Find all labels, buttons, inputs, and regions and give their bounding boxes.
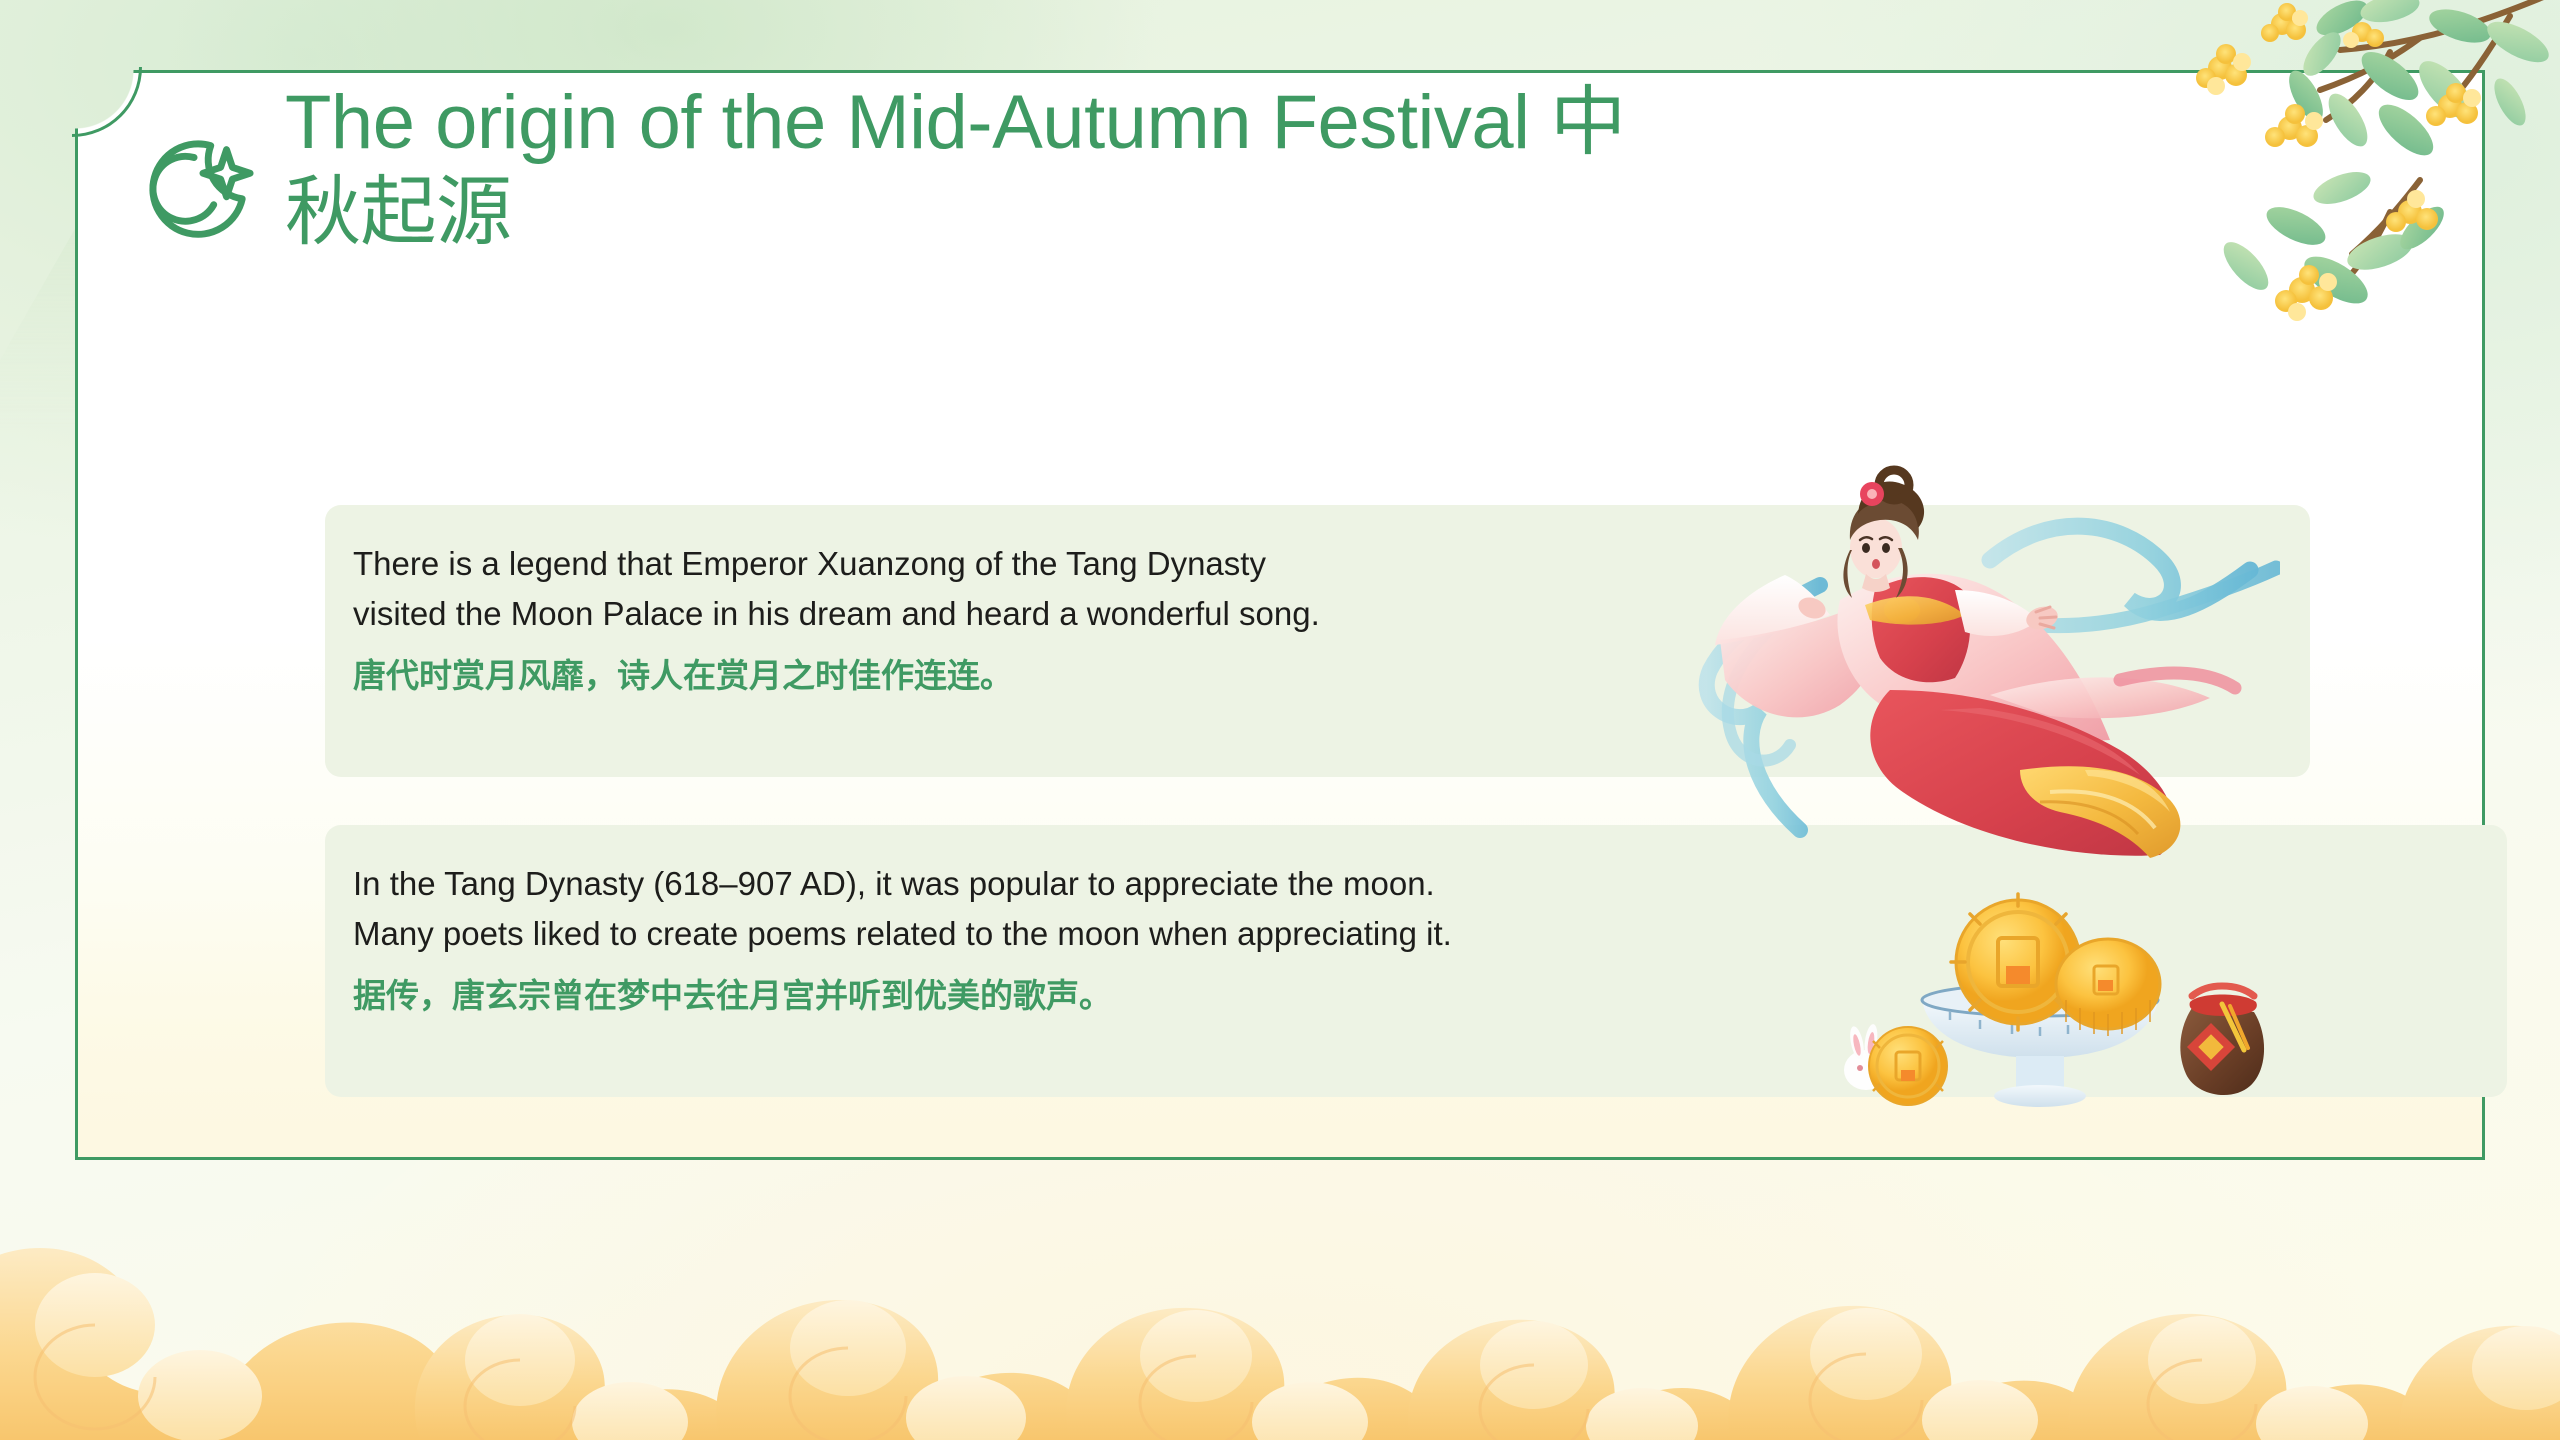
panel-1-en-line1: There is a legend that Emperor Xuanzong … [353,539,1370,589]
slide-canvas: The origin of the Mid-Autumn Festival 中 … [0,0,2560,1440]
osmanthus-branch-icon [2090,0,2560,380]
panel-1-en-line2: visited the Moon Palace in his dream and… [353,589,1370,639]
mooncake-plate-icon [1840,880,2280,1115]
page-title-line2: 秋起源 [285,168,2185,258]
panel-1-zh: 唐代时赏月风靡，诗人在赏月之时佳作连连。 [353,651,1370,701]
panel-2-en-line2: Many poets liked to create poems related… [353,909,1527,959]
panel-2-zh: 据传，唐玄宗曾在梦中去往月宫并听到优美的歌声。 [353,971,1527,1021]
page-title: The origin of the Mid-Autumn Festival 中 … [285,78,2185,257]
page-title-line1: The origin of the Mid-Autumn Festival 中 [285,78,2185,168]
change-flying-goddess-icon [1690,440,2280,860]
auspicious-clouds-icon [0,1110,2560,1440]
panel-2-en-line1: In the Tang Dynasty (618–907 AD), it was… [353,859,1527,909]
crescent-moon-star-icon [140,128,258,246]
